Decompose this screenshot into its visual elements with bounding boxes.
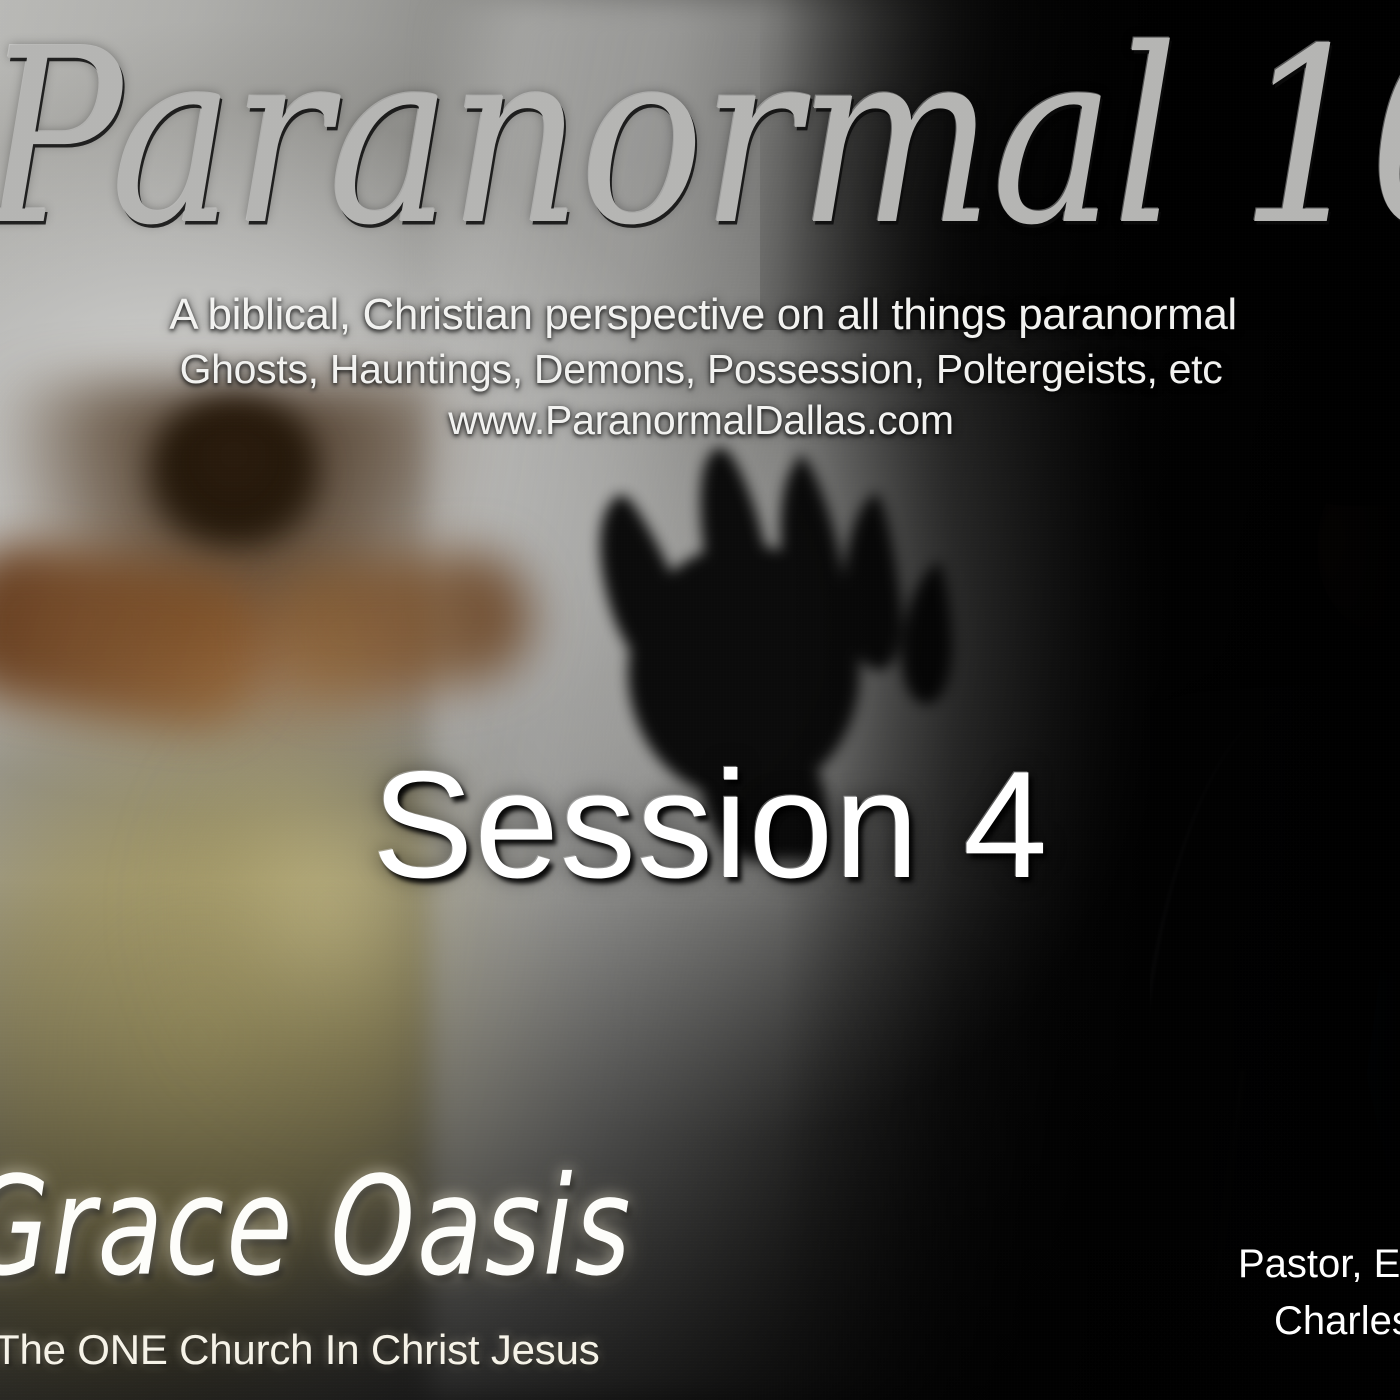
podcast-cover-art: Paranormal 101 A biblical, Christian per… xyxy=(0,0,1400,1400)
subtitle-line-1: A biblical, Christian perspective on all… xyxy=(0,292,1400,339)
subtitle-line-2: Ghosts, Hauntings, Demons, Possession, P… xyxy=(0,347,1400,392)
subtitle-block: A biblical, Christian perspective on all… xyxy=(0,292,1400,443)
pastor-credit: Pastor, Ev Charles xyxy=(1238,1236,1400,1350)
page-title: Paranormal 101 xyxy=(0,18,1400,259)
pastor-credit-line-2: Charles xyxy=(1238,1293,1400,1350)
pastor-credit-line-1: Pastor, Ev xyxy=(1238,1236,1400,1293)
background-bottom-vignette xyxy=(0,880,1400,1400)
church-logo-name: Grace Oasis xyxy=(0,1148,632,1307)
session-label: Session 4 xyxy=(372,738,1049,913)
website-url: www.ParanormalDallas.com xyxy=(0,398,1400,443)
church-logo-tagline: The ONE Church In Christ Jesus xyxy=(0,1326,600,1374)
